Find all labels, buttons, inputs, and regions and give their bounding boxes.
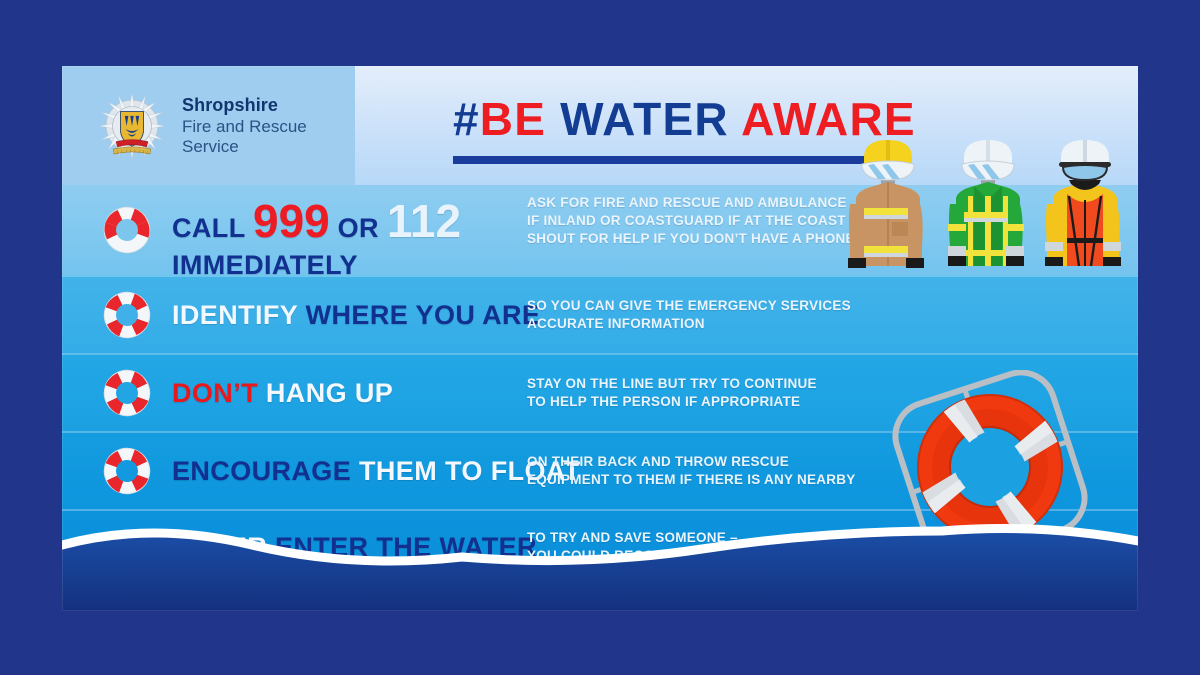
step-description-text: SO YOU CAN GIVE THE EMERGENCY SERVICES A… — [527, 297, 1138, 334]
brand-text: Shropshire Fire and Rescue Service — [182, 95, 355, 156]
lifebuoy-icon — [100, 288, 154, 342]
headline-segment: OR — [330, 213, 387, 243]
step-headline-line-1: DON’T HANG UP — [172, 378, 527, 409]
step-headline-line-1: ENCOURAGE THEM TO FLOAT — [172, 456, 527, 487]
step-headline-3: DON’T HANG UP — [172, 378, 527, 409]
infographic-card: Shropshire Fire and Rescue Service #BE W… — [62, 66, 1138, 611]
headline-segment: 999 — [253, 195, 330, 247]
title-underline — [453, 156, 908, 164]
step-headline-line-1: IDENTIFY WHERE YOU ARE — [172, 300, 527, 331]
infographic-poster: Shropshire Fire and Rescue Service #BE W… — [0, 0, 1200, 675]
headline-segment: 112 — [387, 195, 461, 247]
water-wave-divider — [62, 515, 1138, 611]
headline-segment: CALL — [172, 213, 253, 243]
brand-org-subtitle: Fire and Rescue Service — [182, 117, 355, 157]
lifebuoy-icon — [100, 444, 154, 498]
step-headline-1: CALL 999 OR 112 IMMEDIATELY — [172, 194, 527, 281]
title-hash: # — [453, 93, 480, 145]
logo-panel: Shropshire Fire and Rescue Service — [62, 66, 355, 185]
headline-segment: WHERE YOU ARE — [306, 300, 541, 330]
brand-org-name: Shropshire — [182, 95, 355, 116]
headline-segment: IDENTIFY — [172, 300, 306, 330]
paramedic-jacket — [948, 140, 1024, 266]
lifebuoy-icon — [100, 203, 154, 257]
fire-service-crest-icon — [96, 90, 168, 162]
firefighter-tunic — [848, 140, 924, 268]
step-headline-2: IDENTIFY WHERE YOU ARE — [172, 300, 527, 331]
step-description-2: SO YOU CAN GIVE THE EMERGENCY SERVICES A… — [527, 297, 1138, 334]
page-title: #BE WATER AWARE — [453, 92, 916, 146]
emergency-service-uniforms-icon — [848, 138, 1138, 284]
step-headline-line-1: CALL 999 OR 112 — [172, 194, 527, 248]
title-word-water: WATER — [546, 93, 741, 145]
step-content-2: IDENTIFY WHERE YOU ARE SO YOU CAN GIVE T… — [172, 297, 1138, 334]
coastguard-jacket — [1045, 140, 1121, 266]
step-headline-4: ENCOURAGE THEM TO FLOAT — [172, 456, 527, 487]
lifebuoy-icon — [100, 366, 154, 420]
title-word-be: BE — [480, 93, 546, 145]
headline-segment: DON’T — [172, 378, 266, 408]
brand-lockup: Shropshire Fire and Rescue Service — [96, 90, 355, 162]
headline-segment: ENCOURAGE — [172, 456, 359, 486]
title-block: #BE WATER AWARE — [453, 92, 916, 164]
headline-segment: HANG UP — [266, 378, 393, 408]
step-row-2: IDENTIFY WHERE YOU ARE SO YOU CAN GIVE T… — [62, 275, 1138, 353]
